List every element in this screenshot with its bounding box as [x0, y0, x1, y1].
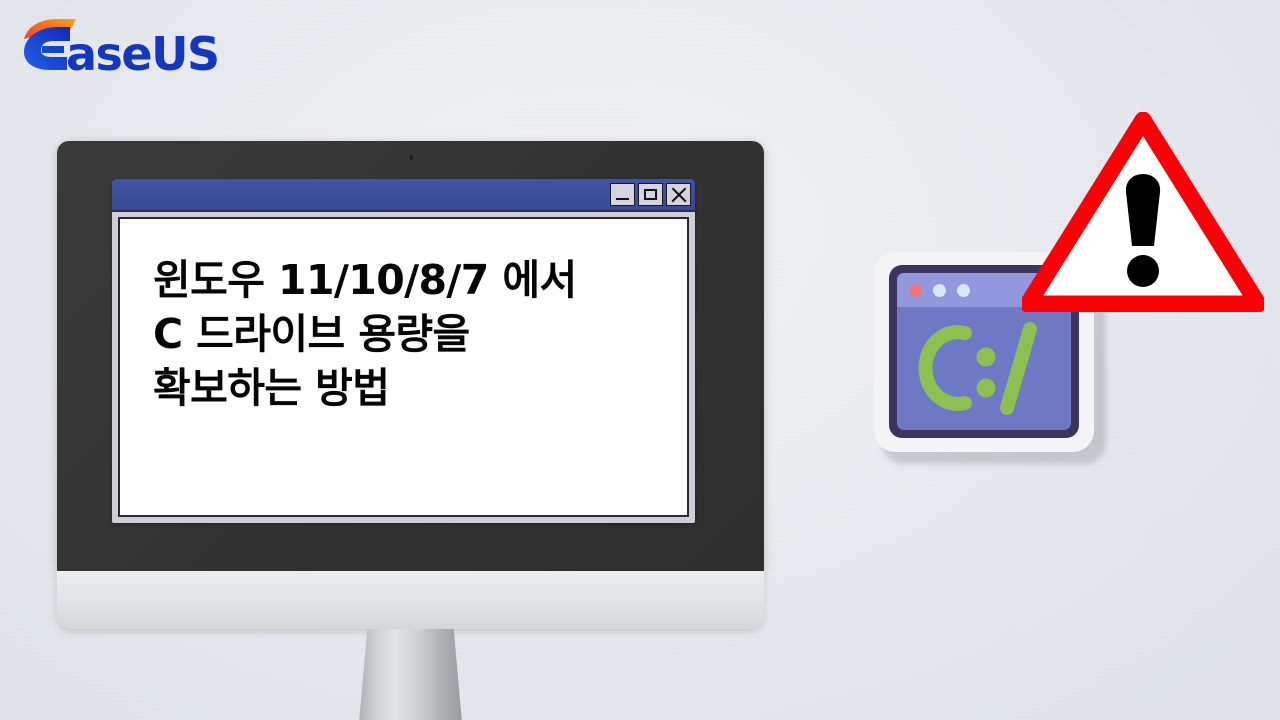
retro-window: 윈도우 11/10/8/7 에서 C 드라이브 용량을 확보하는 방법	[112, 179, 695, 523]
minimize-button[interactable]	[610, 183, 635, 206]
terminal-dot-blue-1-icon	[933, 284, 946, 297]
logo-wordmark: aseUS	[66, 27, 219, 74]
headline-text: 윈도우 11/10/8/7 에서 C 드라이브 용량을 확보하는 방법	[153, 253, 675, 415]
terminal-dot-red-icon	[909, 284, 922, 297]
exclamation-dot-icon	[1127, 255, 1159, 287]
terminal-prompt	[897, 307, 1071, 430]
monitor-chin	[57, 571, 764, 629]
terminal-dot-blue-2-icon	[957, 284, 970, 297]
window-content-area: 윈도우 11/10/8/7 에서 C 드라이브 용량을 확보하는 방법	[118, 217, 689, 517]
easeus-logo-svg: aseUS	[12, 12, 232, 74]
warning-triangle-icon	[1022, 112, 1264, 312]
maximize-button[interactable]	[638, 183, 663, 206]
close-button[interactable]	[666, 183, 691, 206]
webcam-icon	[409, 155, 413, 160]
warning-triangle-svg	[1022, 112, 1264, 312]
desktop-monitor: 윈도우 11/10/8/7 에서 C 드라이브 용량을 확보하는 방법	[57, 141, 764, 629]
monitor-bezel: 윈도우 11/10/8/7 에서 C 드라이브 용량을 확보하는 방법	[57, 141, 764, 571]
maximize-icon	[644, 189, 657, 200]
monitor-stand-neck	[357, 629, 465, 720]
minimize-icon	[616, 198, 629, 201]
exclamation-stem-icon	[1126, 174, 1160, 246]
c-drive-prompt-icon	[897, 307, 1071, 430]
poster-canvas: aseUS 윈도우 11/	[0, 0, 1280, 720]
window-titlebar	[112, 179, 695, 212]
easeus-logo: aseUS	[12, 12, 232, 74]
close-icon	[671, 187, 686, 202]
